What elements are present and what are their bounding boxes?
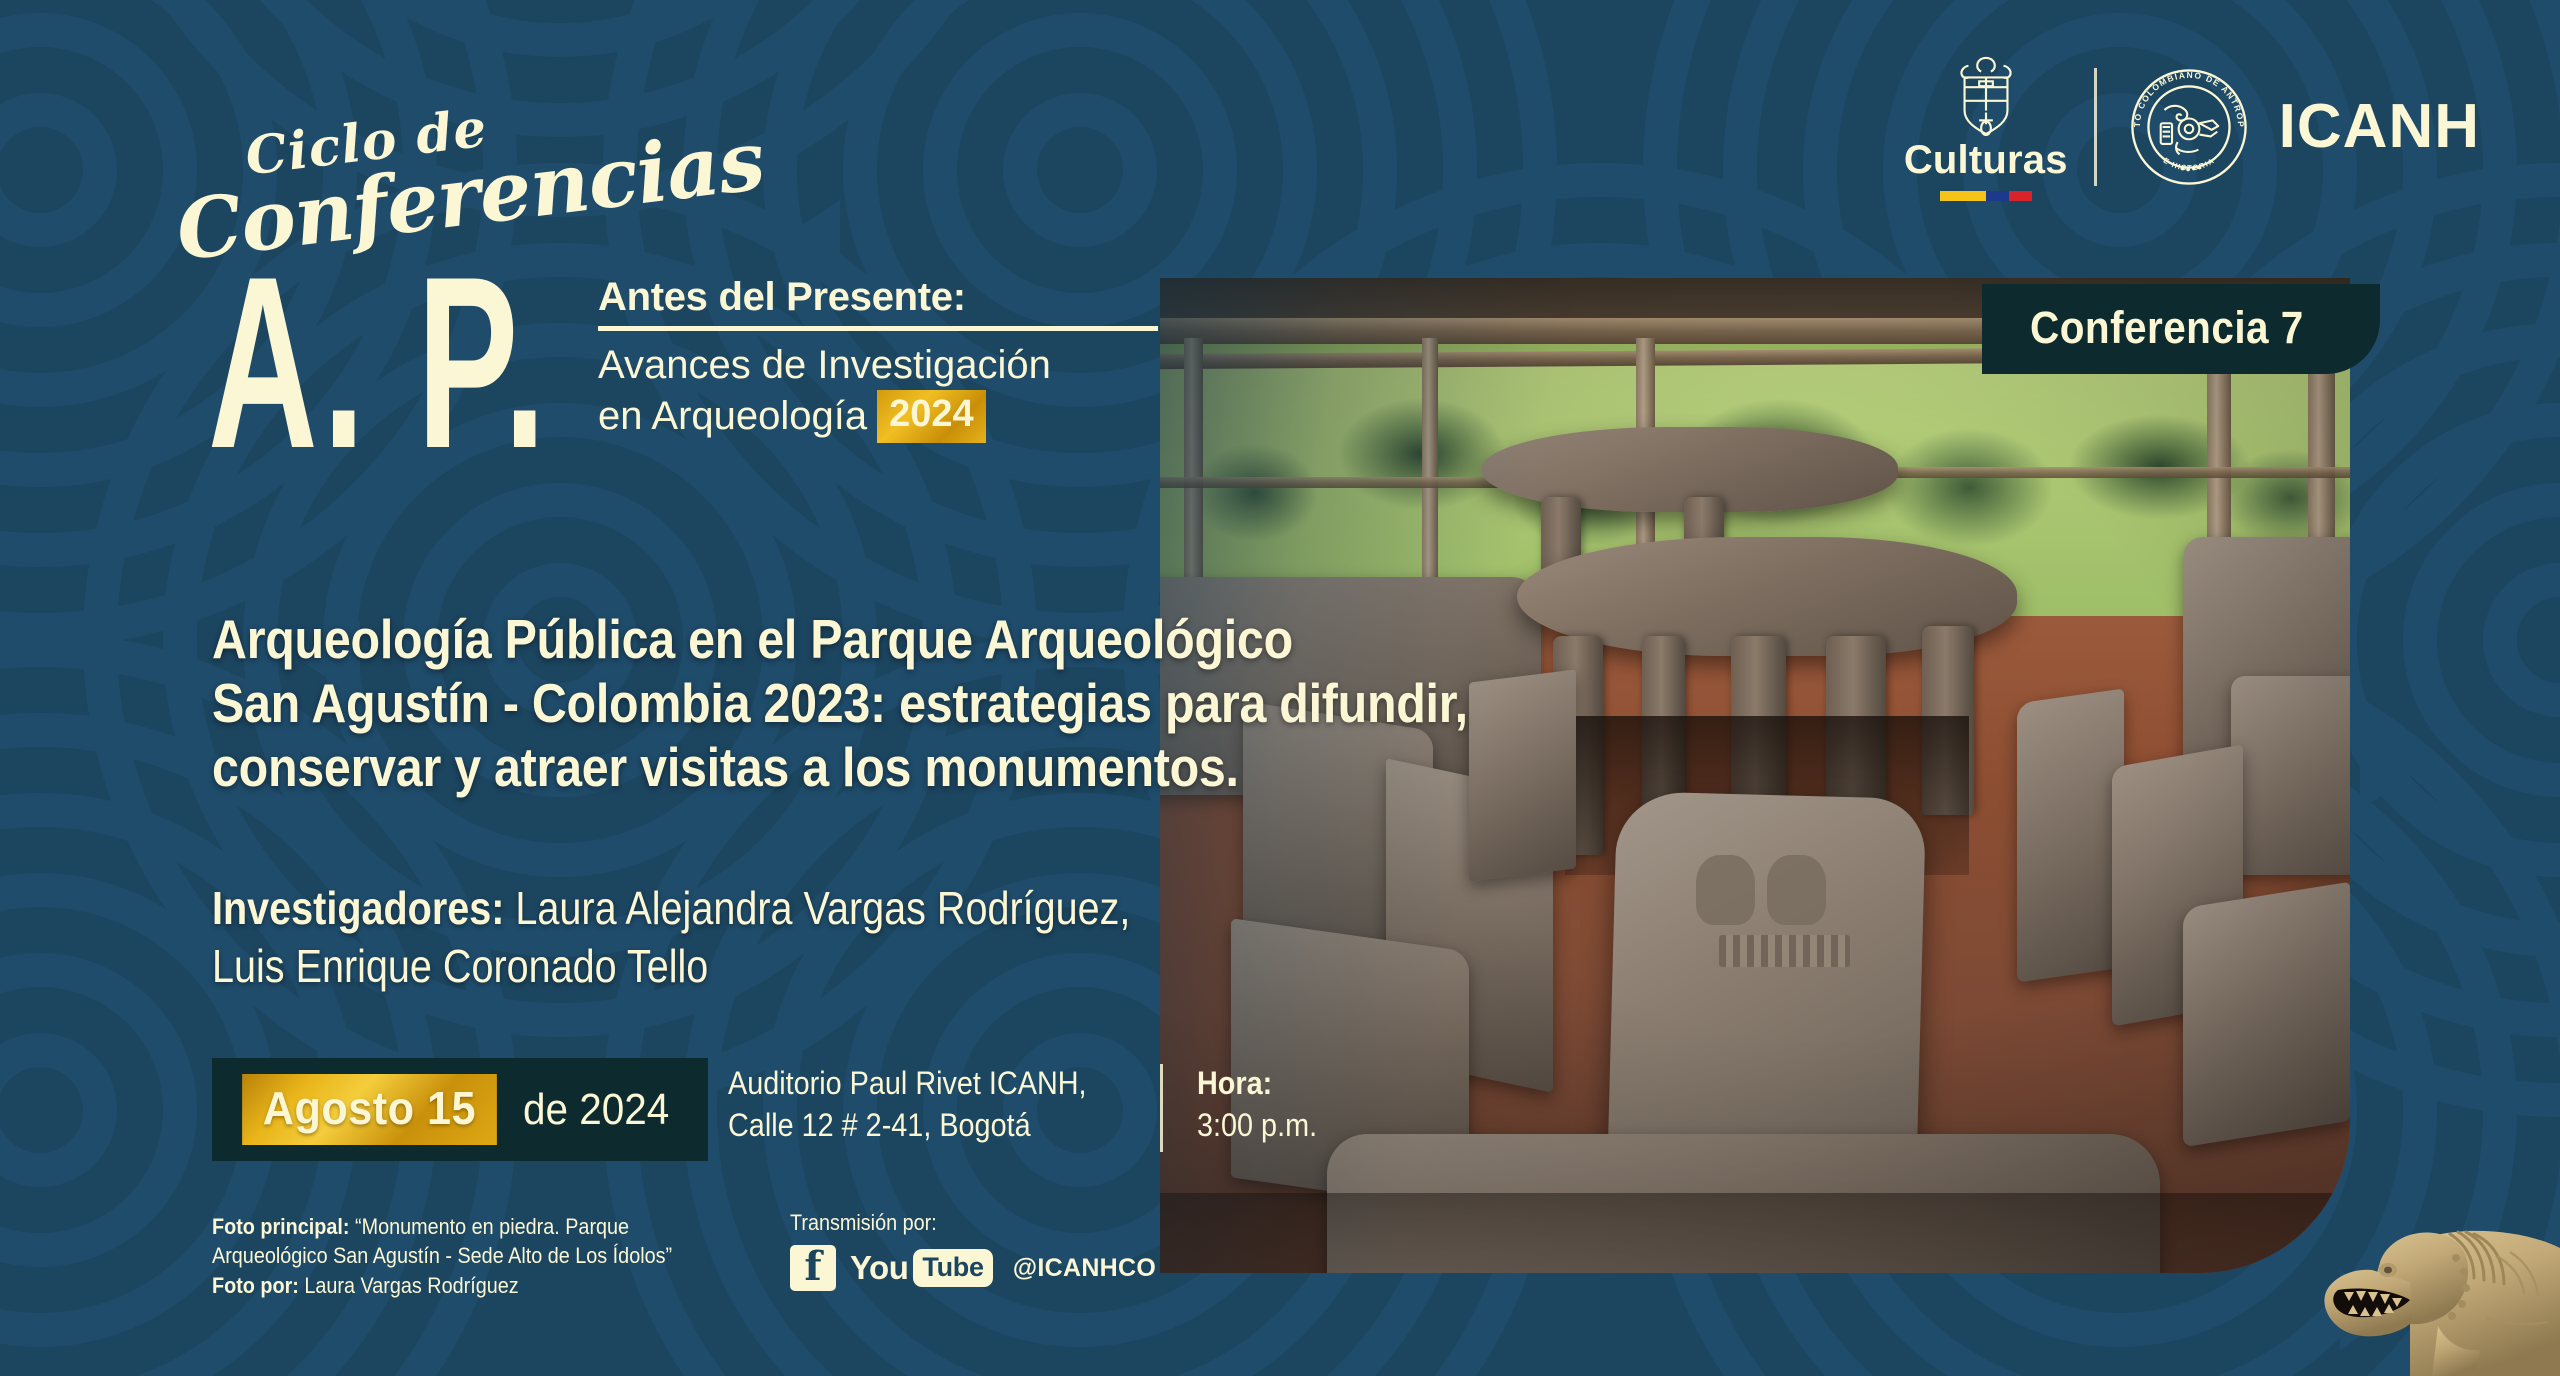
conference-number-badge: Conferencia 7 [1982,284,2380,374]
colombia-coat-of-arms-icon [1947,52,2025,138]
event-date-bar: Agosto 15 de 2024 [212,1058,708,1161]
time-label: Hora: [1197,1065,1272,1101]
photo-caption-line1: “Monumento en piedra. Parque [355,1214,629,1239]
logo-icanh: INSTITUTO COLOMBIANO DE ANTROPOLOGÍA E H… [2123,61,2480,193]
left-content-column: Ciclo de Conferencias A. P. Antes del Pr… [0,0,1300,1376]
colombia-flag-bar [1940,191,2032,201]
series-subtitle-block: Antes del Presente: Avances de Investiga… [598,276,1178,443]
photo-credit-label: Foto principal: [212,1214,349,1239]
researcher-name-1: Laura Alejandra Vargas Rodríguez, [515,882,1130,934]
researchers-label: Investigadores: [212,882,504,934]
stream-block: Transmisión por: You Tube @ICANHCO [790,1210,1156,1291]
talk-title: Arqueología Pública en el Parque Arqueol… [212,608,1162,799]
culturas-label: Culturas [1904,140,2068,180]
stream-icons-row: You Tube @ICANHCO [790,1245,1156,1291]
date-chip: Agosto 15 [242,1074,497,1145]
subtitle-line2: en Arqueología [598,391,867,441]
venue-line2: Calle 12 # 2-41, Bogotá [728,1104,1087,1146]
facebook-icon[interactable] [790,1245,836,1291]
icanh-seal-icon: INSTITUTO COLOMBIANO DE ANTROPOLOGÍA E H… [2123,61,2255,193]
venue-address: Auditorio Paul Rivet ICANH, Calle 12 # 2… [728,1062,1087,1146]
talk-title-line2: San Agustín - Colombia 2023: estrategias… [212,672,1162,736]
event-time: Hora: 3:00 p.m. [1197,1062,1317,1146]
subtitle-bold: Antes del Presente: [598,276,1178,319]
photographer-label: Foto por: [212,1273,299,1298]
date-year: de 2024 [523,1085,669,1135]
logo-divider [2094,68,2097,186]
venue-line1: Auditorio Paul Rivet ICANH, [728,1062,1087,1104]
time-value: 3:00 p.m. [1197,1104,1317,1146]
poster-canvas: Culturas INSTITUTO COLOMBIANO DE ANTROPO… [0,0,2560,1376]
stone-creature-sculpture [2260,1186,2560,1376]
icanh-label: ICANH [2279,96,2480,158]
date-box: Agosto 15 de 2024 [212,1058,708,1161]
photo-credits: Foto principal: “Monumento en piedra. Pa… [212,1212,672,1300]
youtube-you-label: You [850,1249,908,1287]
logo-culturas: Culturas [1904,52,2068,201]
stream-label: Transmisión por: [790,1210,1120,1236]
subtitle-year-chip: 2024 [877,390,986,443]
youtube-icon[interactable]: You Tube [850,1249,993,1287]
talk-title-line3: conservar y atraer visitas a los monumen… [212,736,1162,800]
subtitle-line2-row: en Arqueología 2024 [598,390,1178,443]
ap-monogram: A. P. [208,262,551,463]
social-handle: @ICANHCO [1013,1254,1156,1283]
photographer-name: Laura Vargas Rodríguez [304,1273,518,1298]
researchers-block: Investigadores: Laura Alejandra Vargas R… [212,880,1158,995]
researcher-name-2: Luis Enrique Coronado Tello [212,938,1158,996]
photo-caption-line2: Arqueológico San Agustín - Sede Alto de … [212,1241,672,1270]
talk-title-line1: Arqueología Pública en el Parque Arqueol… [212,608,1162,672]
conference-number-label: Conferencia 7 [2030,302,2304,354]
youtube-tube-label: Tube [913,1249,992,1287]
main-photograph [1160,278,2350,1273]
venue-divider [1160,1064,1163,1152]
event-venue-block: Auditorio Paul Rivet ICANH, Calle 12 # 2… [728,1062,1331,1152]
subtitle-line1: Avances de Investigación [598,340,1178,390]
subtitle-rule [598,326,1158,331]
header-logos: Culturas INSTITUTO COLOMBIANO DE ANTROPO… [1904,52,2480,201]
